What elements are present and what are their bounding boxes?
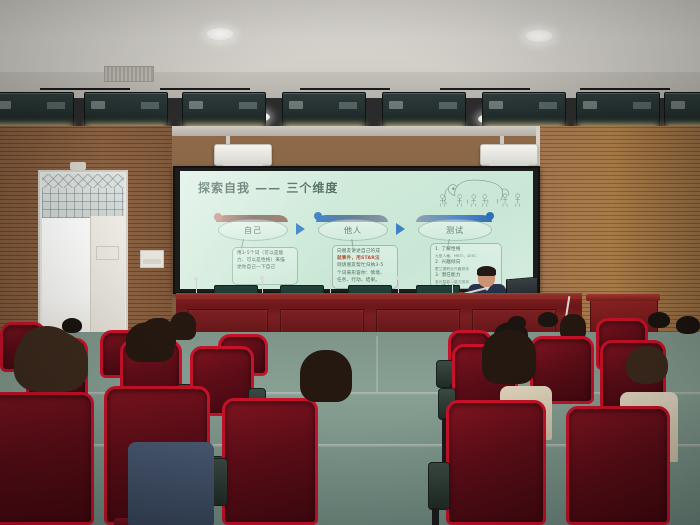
microphone-head xyxy=(194,277,198,281)
microphone-head xyxy=(450,278,454,282)
security-camera-icon xyxy=(70,162,86,170)
door-leaf[interactable] xyxy=(90,216,125,332)
seat[interactable] xyxy=(222,398,318,525)
lecture-hall-photo: 探索自我 —— 三个维度 自己 他人 测试 用3-5个词（可以是能 力、可以是性… xyxy=(0,0,700,525)
microphone-head xyxy=(260,276,264,280)
door-panel-detail xyxy=(96,246,119,260)
transom-lattice xyxy=(42,174,124,188)
ac-unit xyxy=(0,92,74,128)
presenter-hair xyxy=(477,266,496,276)
audience-clothing xyxy=(128,442,214,525)
microphone-head xyxy=(396,276,400,280)
light-switch-panel[interactable] xyxy=(140,250,164,268)
projector xyxy=(214,144,272,166)
audience-head xyxy=(648,312,670,328)
ceiling-vent xyxy=(104,66,154,82)
lectern-top xyxy=(586,294,660,301)
audience-head xyxy=(300,350,352,402)
downlight-icon xyxy=(524,30,554,43)
ac-unit xyxy=(576,92,660,128)
doorway-opening xyxy=(42,218,90,332)
ac-unit xyxy=(664,92,700,128)
audience-head xyxy=(14,330,88,392)
seat[interactable] xyxy=(446,400,546,525)
ac-unit xyxy=(382,92,466,128)
ac-unit xyxy=(84,92,168,128)
audience-head xyxy=(676,316,700,334)
audience-head xyxy=(482,330,536,384)
audience-head xyxy=(626,346,668,384)
seat[interactable] xyxy=(0,392,94,525)
projector xyxy=(480,144,538,166)
ac-unit xyxy=(482,92,566,128)
microphone-head xyxy=(328,276,332,280)
ac-unit xyxy=(282,92,366,128)
seat[interactable] xyxy=(566,406,670,525)
audience-head xyxy=(538,312,558,327)
downlight-icon xyxy=(205,28,235,41)
ac-unit xyxy=(182,92,266,128)
audience-head xyxy=(126,322,174,362)
